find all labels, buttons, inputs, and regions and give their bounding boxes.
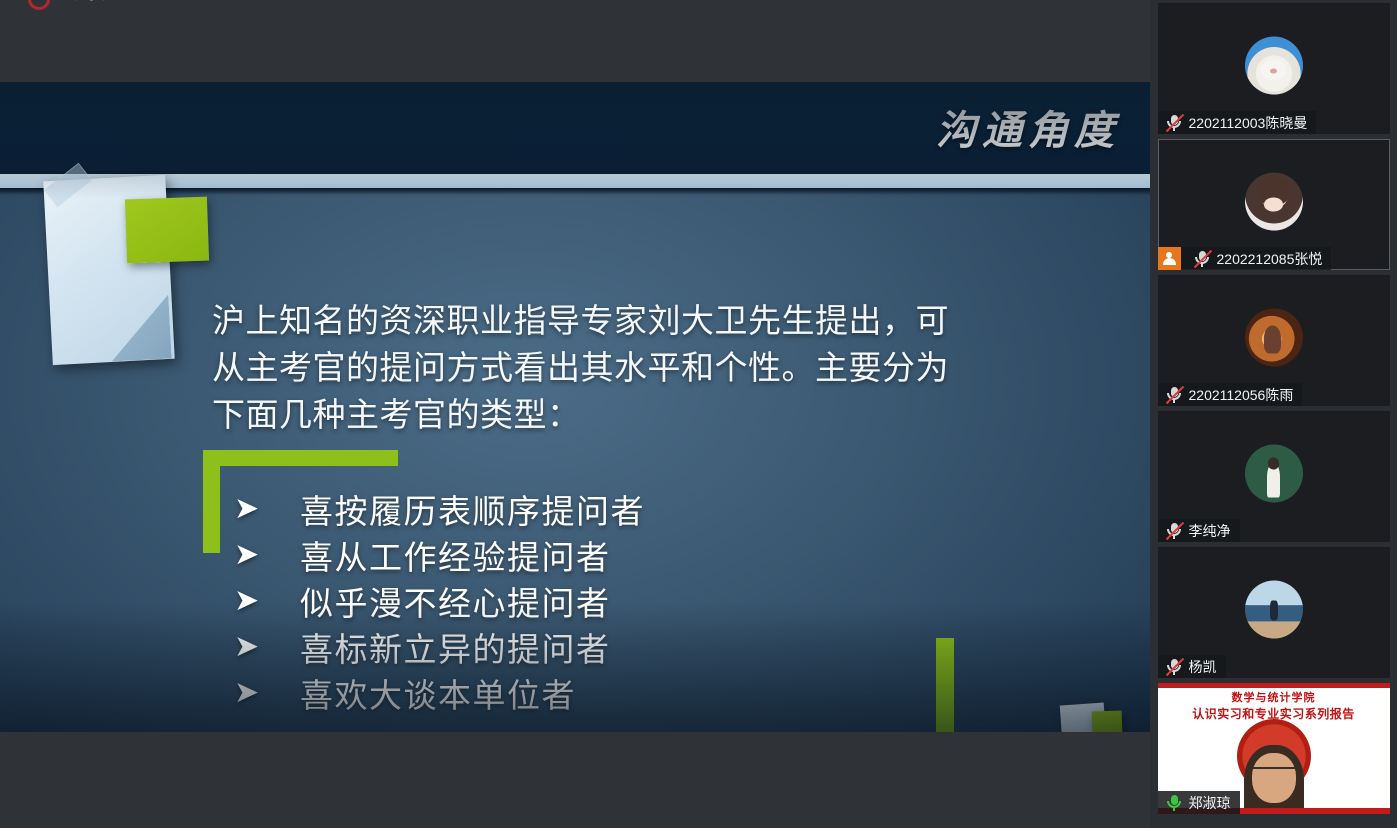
participant-tile-active-speaker[interactable]: 数学与统计学院 认识实习和专业实习系列报告 郑淑琼 [1158,683,1390,814]
participant-name-overlay: 2202112056陈雨 [1158,383,1303,406]
avatar [1245,444,1303,502]
microphone-muted-icon [1165,657,1184,676]
avatar [1245,172,1303,230]
participant-name: 杨凯 [1189,657,1217,677]
glasses-icon [1253,767,1295,777]
participant-name: 2202212085张悦 [1217,249,1323,269]
avatar [1245,580,1303,638]
slide-bullet-list: ➤ 喜按履历表顺序提问者 ➤ 喜从工作经验提问者 ➤ 似乎漫不经心提问者 ➤ 喜… [234,486,645,716]
bullet-arrow-icon: ➤ [234,586,300,616]
bullet-label: 喜从工作经验提问者 [300,531,611,579]
bullet-arrow-icon: ➤ [234,678,300,708]
person-face [1252,753,1296,803]
bullet-label: 喜标新立异的提问者 [300,623,611,671]
bullet-label: 似乎漫不经心提问者 [300,577,611,625]
participant-name: 2202112056陈雨 [1189,385,1294,405]
participant-name-overlay: 2202112003陈晓曼 [1158,111,1317,134]
bullet-label: 喜按履历表顺序提问者 [300,485,645,533]
bracket-decoration-bottom-right [762,638,954,732]
slide-title: 沟通角度 [936,98,1120,156]
bullet-arrow-icon: ➤ [234,494,300,524]
participant-tile[interactable]: 2202112056陈雨 [1158,275,1390,406]
list-item: ➤ 似乎漫不经心提问者 [234,578,645,624]
participant-tile[interactable]: 2202112003陈晓曼 [1158,3,1390,134]
participant-tile[interactable]: 李纯净 [1158,411,1390,542]
sticky-note-icon-small [1062,704,1132,732]
microphone-muted-icon [1193,249,1212,268]
participant-tile[interactable]: 杨凯 [1158,547,1390,678]
bullet-arrow-icon: ➤ [234,632,300,662]
participant-tile[interactable]: 2202212085张悦 [1158,139,1390,270]
stage-background [0,732,1150,828]
shared-screen-stage[interactable]: 沟通角度 沪上知名的资深职业指导专家刘大卫先生提出，可从主考官的提问方式看出其水… [0,82,1150,732]
microphone-muted-icon [1165,521,1184,540]
participant-name: 郑淑琼 [1189,793,1231,813]
host-person-icon [1158,247,1181,270]
recording-bar: 正在录制 [0,0,1150,82]
microphone-muted-icon [1165,113,1184,132]
participant-name: 2202112003陈晓曼 [1189,113,1308,133]
presentation-slide: 沟通角度 沪上知名的资深职业指导专家刘大卫先生提出，可从主考官的提问方式看出其水… [0,82,1150,732]
participant-name-overlay: 杨凯 [1158,655,1226,678]
recording-indicator-icon [28,0,50,10]
participant-name-overlay: 李纯净 [1158,519,1240,542]
bullet-label: 喜欢大谈本单位者 [300,669,576,717]
list-item: ➤ 喜标新立异的提问者 [234,624,645,670]
slide-body-paragraph: 沪上知名的资深职业指导专家刘大卫先生提出，可从主考官的提问方式看出其水平和个性。… [212,298,954,439]
meeting-window: 正在录制 沟通角度 沪上知名的资深职业指导专家刘大卫先生提出，可从主考官的提问方… [0,0,1397,828]
participant-name-overlay: 2202212085张悦 [1158,247,1332,270]
video-banner-line1: 数学与统计学院 [1158,689,1390,705]
sticky-note-icon [48,178,198,373]
avatar [1245,36,1303,94]
microphone-on-icon [1165,793,1184,812]
participant-name-overlay: 郑淑琼 [1158,791,1240,814]
participant-name: 李纯净 [1189,521,1231,541]
bullet-arrow-icon: ➤ [234,540,300,570]
participant-rail[interactable]: 2202112003陈晓曼 2202212085张悦 2202112056陈雨 [1150,0,1397,828]
list-item: ➤ 喜欢大谈本单位者 [234,670,645,716]
recording-label: 正在录制 [60,0,112,3]
list-item: ➤ 喜从工作经验提问者 [234,532,645,578]
list-item: ➤ 喜按履历表顺序提问者 [234,486,645,532]
microphone-muted-icon [1165,385,1184,404]
avatar [1245,308,1303,366]
